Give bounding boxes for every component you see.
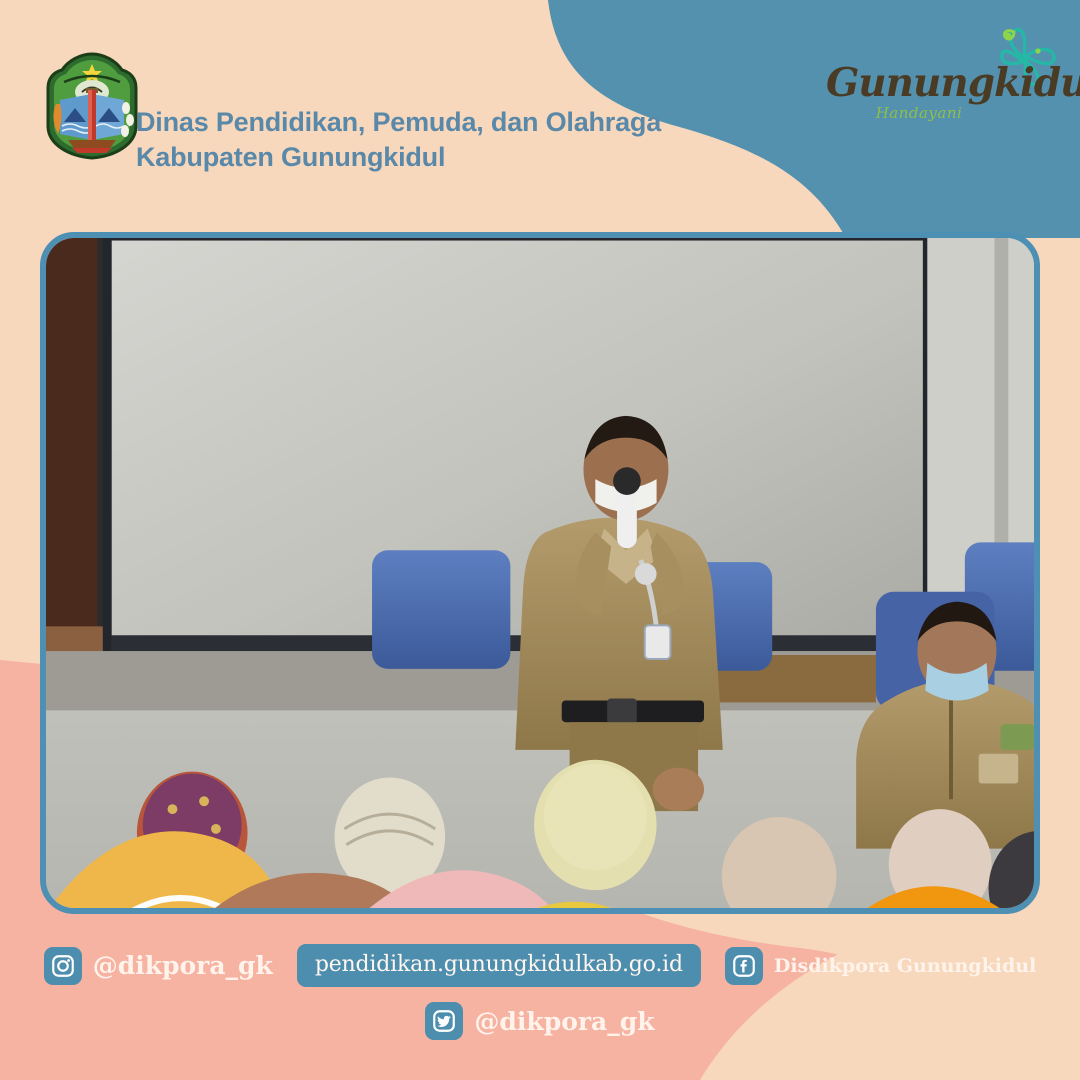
social-row-secondary: @dikpora_gk [0,1002,1080,1040]
social-footer: @dikpora_gk pendidikan.gunungkidulkab.go… [0,930,1080,1080]
facebook-handle[interactable]: Disdikpora Gunungkidul [774,955,1036,977]
event-photo [46,238,1034,908]
facebook-icon[interactable] [725,947,763,985]
title-line-1: Dinas Pendidikan, Pemuda, dan Olahraga [136,107,661,137]
instagram-link[interactable]: @dikpora_gk [44,947,273,985]
gunungkidul-brand-logo: Gunungkidul Handayani [826,42,1056,132]
event-photo-frame [40,232,1040,914]
facebook-link[interactable]: Disdikpora Gunungkidul [725,947,1036,985]
instagram-icon[interactable] [44,947,82,985]
poster-canvas: Dinas Pendidikan, Pemuda, dan Olahraga K… [0,0,1080,1080]
twitter-link[interactable]: @dikpora_gk [425,1002,654,1040]
brand-wordmark: Gunungkidul [826,60,1031,106]
title-line-2: Kabupaten Gunungkidul [136,140,661,175]
brand-tagline: Handayani [844,104,994,122]
twitter-handle[interactable]: @dikpora_gk [474,1007,654,1036]
website-url-pill[interactable]: pendidikan.gunungkidulkab.go.id [297,944,701,987]
instagram-handle[interactable]: @dikpora_gk [93,951,273,980]
page-title: Dinas Pendidikan, Pemuda, dan Olahraga K… [136,70,661,210]
social-row-primary: @dikpora_gk pendidikan.gunungkidulkab.go… [0,944,1080,987]
twitter-icon[interactable] [425,1002,463,1040]
regency-crest-icon [42,52,142,160]
